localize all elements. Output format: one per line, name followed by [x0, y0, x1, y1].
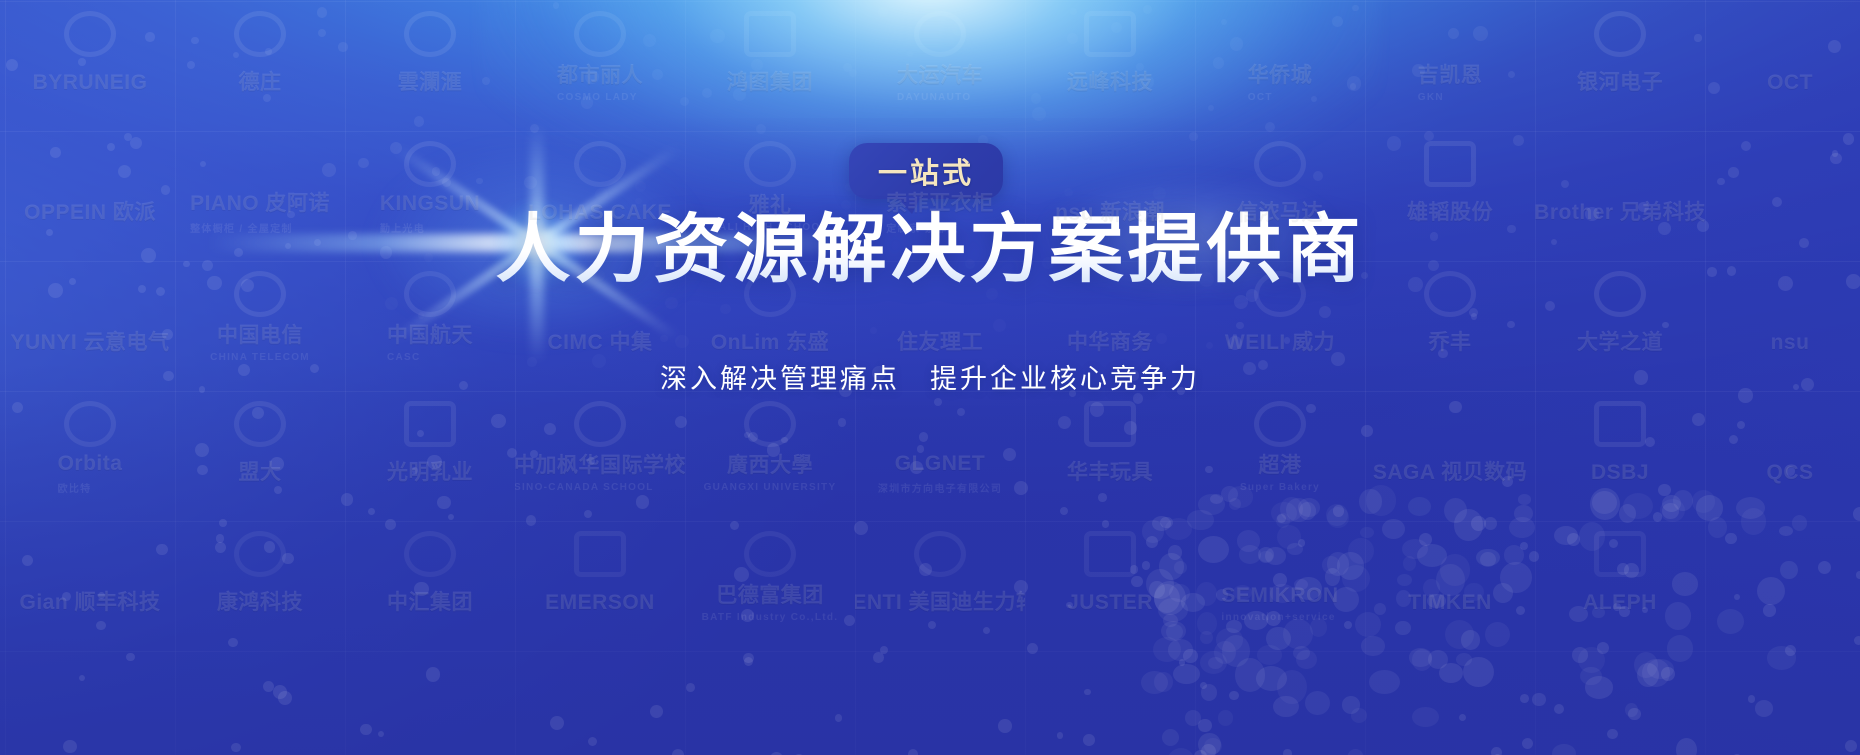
logo-name: 远峰科技 — [1067, 70, 1153, 96]
logo-name: JUSTER — [1067, 590, 1153, 616]
logo-name: 中国航天 — [387, 323, 473, 349]
logo-text-group: QCS — [1766, 460, 1813, 486]
logo-tagline: GKN — [1418, 92, 1483, 103]
logo-text-group: WEILI 威力 — [1225, 330, 1335, 356]
logo-text-group: 大学之道 — [1577, 330, 1663, 356]
logo-text-group: 廣西大學GUANGXI UNIVERSITY — [704, 453, 837, 493]
logo-text-group: 银河电子 — [1577, 70, 1663, 96]
logo-name: Gian 顺丰科技 — [19, 590, 160, 616]
logo-tagline: 整体橱柜 / 全屋定制 — [190, 220, 330, 235]
logo-text-group: TIMKEN — [1408, 590, 1492, 616]
logo-text-group: 中国电信CHINA TELECOM — [210, 323, 310, 363]
hero-banner: BYRUNEIG德庄雲瀾滙都市丽人COSMO LADY鸿图集团大运汽车DAYUN… — [0, 0, 1860, 755]
logo-name: 吉凯恩 — [1418, 63, 1483, 89]
logo-text-group: 住友理工 — [897, 330, 983, 356]
logo-name: 巴德富集团 — [702, 583, 839, 609]
logo-name: QCS — [1766, 460, 1813, 486]
logo-text-group: 鸿图集团 — [727, 70, 813, 96]
logo-text-group: 大运汽车DAYUNAUTO — [897, 63, 983, 103]
logo-tagline: 定制家·索菲亚 — [886, 220, 994, 235]
logo-text-group: 华丰玩具 — [1067, 460, 1153, 486]
logo-text-group: 中加枫华国际学校SINO-CANADA SCHOOL — [515, 453, 685, 493]
logo-name: 雄韬股份 — [1407, 200, 1493, 226]
logo-name: 光明乳业 — [387, 460, 473, 486]
logo-name: 中汇集团 — [387, 590, 473, 616]
logo-name: 德庄 — [239, 70, 282, 96]
logo-tagline: GUANGXI UNIVERSITY — [704, 482, 837, 493]
logo-tagline: CHINA TELECOM — [210, 352, 310, 363]
logo-tagline: Super Bakery — [1240, 482, 1320, 493]
logo-name: EMERSON — [545, 590, 655, 616]
badge-label: 一站式 — [878, 150, 974, 192]
logo-text-group: KINGSUN勤上光电 — [380, 191, 480, 235]
logo-text-group: OPPEIN 欧派 — [24, 200, 156, 226]
logo-name: 索菲亚衣柜 — [886, 191, 994, 217]
logo-text-group: DCENTI 美国迪生力轮毂 — [855, 590, 1025, 616]
logo-text-group: 盟大 — [239, 460, 282, 486]
logo-name: BYRUNEIG — [33, 70, 148, 96]
logo-name: ALEPH — [1583, 590, 1657, 616]
logo-text-group: PIANO 皮阿诺整体橱柜 / 全屋定制 — [190, 191, 330, 235]
logo-name: CIMC 中集 — [548, 330, 653, 356]
logo-text-group: 远峰科技 — [1067, 70, 1153, 96]
logo-text-group: Brother 兄弟科技 — [1535, 200, 1705, 226]
logo-text-group: LOHAS CAKE — [528, 200, 672, 226]
logo-name: 康鸿科技 — [217, 590, 303, 616]
logo-tagline: DAYUNAUTO — [897, 92, 983, 103]
logo-text-group: 中汇集团 — [387, 590, 473, 616]
logo-name: 住友理工 — [897, 330, 983, 356]
logo-text-group: nsu 新浪潮 — [1055, 200, 1165, 226]
logo-name: GLGNET — [878, 451, 1002, 477]
logo-name: 雅礼 — [712, 193, 828, 219]
logo-text-group: Gian 顺丰科技 — [19, 590, 160, 616]
logo-text-group: 巴德富集团BATF Industry Co.,Ltd. — [702, 583, 839, 623]
logo-name: DCENTI 美国迪生力轮毂 — [855, 590, 1025, 616]
logo-name: OCT — [1767, 70, 1813, 96]
logo-text-group: 吉凯恩GKN — [1418, 63, 1483, 103]
logo-text-group: 德庄 — [239, 70, 282, 96]
logo-name: YUNYI 云意电气 — [11, 330, 170, 356]
logo-text-group: 康鸿科技 — [217, 590, 303, 616]
logo-name: KINGSUN — [380, 191, 480, 217]
logo-text-group: nsu — [1771, 330, 1810, 356]
logo-text-group: 中华商务 — [1067, 330, 1153, 356]
logo-text-group: YUNYI 云意电气 — [11, 330, 170, 356]
logo-name: 中华商务 — [1067, 330, 1153, 356]
logo-text-group: 雄韬股份 — [1407, 200, 1493, 226]
logo-text-group: 信浓马达 — [1237, 200, 1323, 226]
logo-name: 华丰玩具 — [1067, 460, 1153, 486]
logo-text-group: JUSTER — [1067, 590, 1153, 616]
logo-name: 银河电子 — [1577, 70, 1663, 96]
logo-name: 都市丽人 — [557, 63, 643, 89]
logo-text-group: OnLim 东盛 — [711, 330, 829, 356]
logo-tagline: 深圳市方向电子有限公司 — [878, 480, 1002, 495]
logo-text-group: EMERSON — [545, 590, 655, 616]
logo-name: 鸿图集团 — [727, 70, 813, 96]
logo-text-group: GLGNET深圳市方向电子有限公司 — [878, 451, 1002, 495]
logo-text-group: OCT — [1767, 70, 1813, 96]
logo-tagline: COSMO LADY — [557, 92, 643, 103]
logo-name: 雲瀾滙 — [398, 70, 463, 96]
logo-tagline: YALI HIGH SCHOOL — [712, 222, 828, 233]
logo-name: 中加枫华国际学校 — [515, 453, 685, 479]
logo-text-group: 乔丰 — [1429, 330, 1472, 356]
logo-name: LOHAS CAKE — [528, 200, 672, 226]
logo-tagline: BATF Industry Co.,Ltd. — [702, 612, 839, 623]
logo-tagline: 勤上光电 — [380, 220, 480, 235]
logo-text-group: Orbita欧比特 — [58, 451, 123, 495]
logo-tagline: 欧比特 — [58, 480, 123, 495]
logo-name: 乔丰 — [1429, 330, 1472, 356]
logo-name: Orbita — [58, 451, 123, 477]
logo-text-group: 索菲亚衣柜定制家·索菲亚 — [886, 191, 994, 235]
logo-name: 廣西大學 — [704, 453, 837, 479]
logo-name: 华侨城 — [1248, 63, 1313, 89]
logo-name: PIANO 皮阿诺 — [190, 191, 330, 217]
logo-text-group: 都市丽人COSMO LADY — [557, 63, 643, 103]
logo-text-group: 光明乳业 — [387, 460, 473, 486]
logo-name: nsu — [1771, 330, 1810, 356]
logo-name: TIMKEN — [1408, 590, 1492, 616]
logo-tagline: innovation+service — [1221, 612, 1338, 623]
logo-tagline: OCT — [1248, 92, 1313, 103]
logo-name: SEMIKRON — [1221, 583, 1338, 609]
logo-name: 信浓马达 — [1237, 200, 1323, 226]
logo-name: 超港 — [1240, 453, 1320, 479]
page-subtitle: 深入解决管理痛点 提升企业核心竞争力 — [660, 357, 1200, 396]
logo-tagline: CASC — [387, 352, 473, 363]
logo-text-group: DSBJ — [1591, 460, 1649, 486]
logo-tagline: SINO-CANADA SCHOOL — [515, 482, 685, 493]
logo-name: 盟大 — [239, 460, 282, 486]
logo-name: DSBJ — [1591, 460, 1649, 486]
logo-name: 大运汽车 — [897, 63, 983, 89]
logo-text-group: BYRUNEIG — [33, 70, 148, 96]
logo-name: SAGA 视贝数码 — [1373, 460, 1527, 486]
logo-name: OPPEIN 欧派 — [24, 200, 156, 226]
logo-text-group: 雲瀾滙 — [398, 70, 463, 96]
logo-name: Brother 兄弟科技 — [1535, 200, 1705, 226]
logo-name: 中国电信 — [210, 323, 310, 349]
logo-text-group: 雅礼YALI HIGH SCHOOL — [712, 193, 828, 233]
logo-text-group: 超港Super Bakery — [1240, 453, 1320, 493]
logo-text-group: CIMC 中集 — [548, 330, 653, 356]
logo-name: WEILI 威力 — [1225, 330, 1335, 356]
logo-name: nsu 新浪潮 — [1055, 200, 1165, 226]
logo-text-group: SAGA 视贝数码 — [1373, 460, 1527, 486]
logo-text-group: ALEPH — [1583, 590, 1657, 616]
logo-text-group: SEMIKRONinnovation+service — [1221, 583, 1338, 623]
logo-name: 大学之道 — [1577, 330, 1663, 356]
logo-text-group: 中国航天CASC — [387, 323, 473, 363]
logo-name: OnLim 东盛 — [711, 330, 829, 356]
logo-text-group: 华侨城OCT — [1248, 63, 1313, 103]
